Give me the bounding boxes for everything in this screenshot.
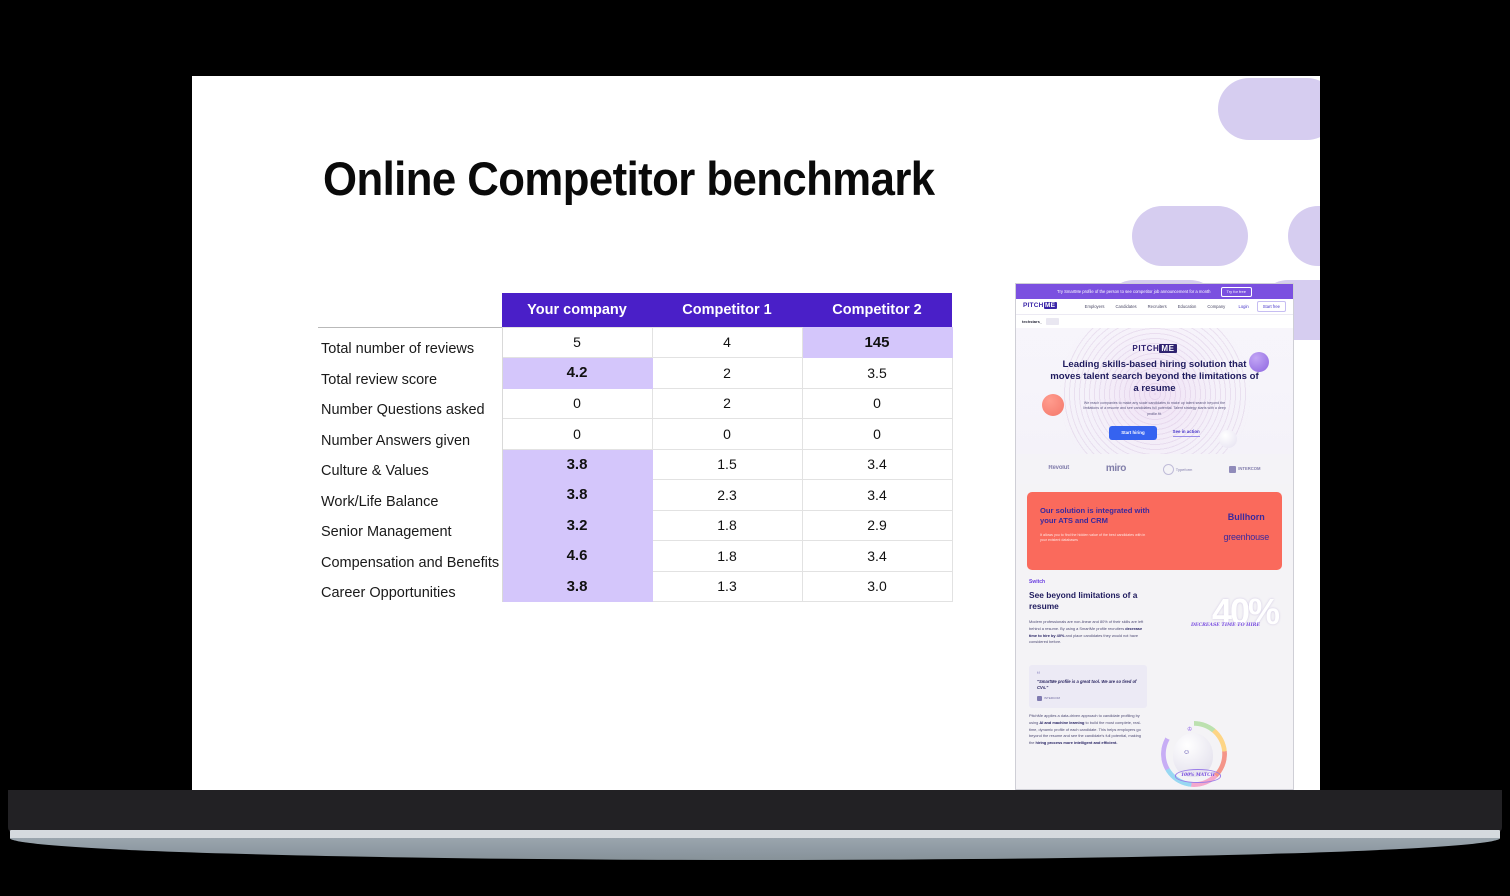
announcement-text: Try SmartMe profile of the person to see… — [1057, 289, 1210, 294]
hero-blob-coral-icon — [1042, 394, 1064, 416]
integration-card-text: Our solution is integrated with your ATS… — [1040, 506, 1152, 544]
resume-section-body: Modern professionals are non-linear and … — [1029, 619, 1147, 646]
deco-pill — [1132, 206, 1248, 266]
site-nav-links: Employers Candidates Recruiters Educatio… — [1085, 304, 1226, 309]
table-cell: 3.8 — [502, 449, 652, 480]
table-cell: 3.8 — [502, 480, 652, 511]
table-row: Total number of reviews54145 — [318, 327, 952, 358]
table-cell: 4 — [652, 327, 802, 358]
stat-graphic: 40% DECREASE TIME TO HIRE — [1147, 587, 1280, 661]
site-hero: PITCHME Leading skills-based hiring solu… — [1016, 328, 1293, 454]
hero-logo-text-b: ME — [1159, 344, 1176, 353]
avatar-face-icon: ☺ — [1183, 749, 1190, 758]
site-logo-text-b: ME — [1044, 302, 1057, 309]
site-nav-actions: Login Start free — [1239, 301, 1286, 312]
deco-pill — [1288, 206, 1320, 266]
techstars-badge: techstars_ — [1022, 319, 1042, 324]
testimonial-source: INTERCOM — [1037, 696, 1139, 701]
table-cell: 1.8 — [652, 541, 802, 572]
integration-card: Our solution is integrated with your ATS… — [1027, 492, 1282, 570]
table-row: Compensation and Benefits4.61.83.4 — [318, 541, 952, 572]
site-logo-text-a: PITCH — [1023, 302, 1044, 309]
table-body: Total number of reviews54145Total review… — [318, 327, 952, 602]
client-logo-revolut: Revolut — [1048, 465, 1069, 473]
testimonial-source-label: INTERCOM — [1044, 697, 1060, 701]
announcement-cta-button[interactable]: Try for free — [1221, 287, 1252, 297]
column-header-your-company[interactable]: Your company — [502, 293, 652, 327]
row-label: Number Questions asked — [318, 388, 502, 419]
start-hiring-button[interactable]: Start hiring — [1109, 426, 1156, 440]
client-logo-intercom-label: INTERCOM — [1238, 466, 1260, 471]
bullhorn-logo: Bullhorn — [1228, 512, 1265, 523]
ai-body-bold-1: AI and machine learning — [1039, 720, 1084, 725]
typeform-ring-icon — [1163, 464, 1174, 475]
table-cell: 3.2 — [502, 510, 652, 541]
integration-card-body: It allows you to find the hidden value o… — [1040, 533, 1152, 544]
testimonial-text: "SmartMe profile is a great tool. We are… — [1037, 679, 1139, 692]
integration-card-heading: Our solution is integrated with your ATS… — [1040, 506, 1152, 527]
ai-section-body: PitchMe applies a data-driven approach t… — [1029, 713, 1147, 790]
table-cell: 3.5 — [802, 358, 952, 389]
client-logo-typeform-label: Typeform — [1176, 467, 1193, 472]
hero-blob-white-icon — [1219, 430, 1237, 448]
table-cell: 0 — [802, 419, 952, 450]
resume-section-heading: See beyond limitations of a resume — [1029, 590, 1147, 612]
table-cell: 1.8 — [652, 510, 802, 541]
laptop-hinge — [8, 790, 1502, 834]
table-header-row: Your company Competitor 1 Competitor 2 — [318, 293, 952, 327]
site-logo[interactable]: PITCHME — [1023, 302, 1057, 310]
see-in-action-link[interactable]: See in action — [1173, 429, 1200, 438]
client-logo-miro: miro — [1106, 463, 1126, 476]
row-label: Work/Life Balance — [318, 480, 502, 511]
table-cell: 3.4 — [802, 541, 952, 572]
row-label: Compensation and Benefits — [318, 541, 502, 572]
start-free-button[interactable]: Start free — [1257, 301, 1286, 312]
intercom-mark-icon — [1037, 696, 1042, 701]
stat-handwritten-note: DECREASE TIME TO HIRE — [1191, 623, 1260, 629]
website-screenshot-panel: Try SmartMe profile of the person to see… — [1015, 283, 1294, 790]
table-row: Total review score4.223.5 — [318, 358, 952, 389]
table-cell: 0 — [652, 419, 802, 450]
nav-link-education[interactable]: Education — [1178, 304, 1197, 309]
table-cell: 3.8 — [502, 571, 652, 602]
nav-link-company[interactable]: Company — [1207, 304, 1225, 309]
benchmark-table: Your company Competitor 1 Competitor 2 T… — [318, 293, 953, 602]
login-link[interactable]: Login — [1239, 304, 1249, 309]
greenhouse-logo: greenhouse — [1223, 532, 1269, 543]
site-badge-row: techstars_ — [1016, 315, 1293, 328]
ai-section: PitchMe applies a data-driven approach t… — [1016, 708, 1293, 790]
nav-link-employers[interactable]: Employers — [1085, 304, 1105, 309]
table-cell: 0 — [502, 419, 652, 450]
table-corner-cell — [318, 293, 502, 327]
hero-logo: PITCHME — [1132, 344, 1176, 354]
table-cell: 4.6 — [502, 541, 652, 572]
client-logo-typeform: Typeform — [1163, 464, 1193, 475]
row-label: Total number of reviews — [318, 327, 502, 358]
site-navbar: PITCHME Employers Candidates Recruiters … — [1016, 299, 1293, 315]
table-cell: 0 — [502, 388, 652, 419]
intercom-mark-icon — [1229, 466, 1236, 473]
laptop-base — [10, 838, 1500, 860]
row-label: Senior Management — [318, 510, 502, 541]
ai-body-bold-2: hiring process more intelligent and effi… — [1036, 740, 1118, 745]
testimonial-quote: “ "SmartMe profile is a great tool. We a… — [1029, 665, 1147, 708]
laptop-screen: Online Competitor benchmark Your company… — [192, 76, 1320, 790]
nav-link-recruiters[interactable]: Recruiters — [1148, 304, 1167, 309]
table-row: Number Questions asked020 — [318, 388, 952, 419]
integration-card-logos: Bullhorn greenhouse — [1223, 506, 1269, 544]
hero-cta-group: Start hiring See in action — [1109, 426, 1200, 440]
table-cell: 1.3 — [652, 571, 802, 602]
column-header-competitor-2[interactable]: Competitor 2 — [802, 293, 952, 327]
deco-pill — [1218, 78, 1320, 140]
table-cell: 4.2 — [502, 358, 652, 389]
avatar-graphic: ♔ ☺ 100% MATCH — [1147, 713, 1280, 790]
table-cell: 3.4 — [802, 480, 952, 511]
table-row: Culture & Values3.81.53.4 — [318, 449, 952, 480]
row-label: Number Answers given — [318, 419, 502, 450]
client-logo-row: Revolut miro Typeform INTERCOM — [1016, 454, 1293, 484]
table-row: Career Opportunities3.81.33.0 — [318, 571, 952, 602]
site-announcement-bar[interactable]: Try SmartMe profile of the person to see… — [1016, 284, 1293, 299]
row-label: Total review score — [318, 358, 502, 389]
table-cell: 2.3 — [652, 480, 802, 511]
table-cell: 3.0 — [802, 571, 952, 602]
resume-section-text: See beyond limitations of a resume Moder… — [1029, 587, 1147, 661]
slide-canvas: Online Competitor benchmark Your company… — [0, 0, 1510, 896]
hero-subtext: We reach companies to make any scale can… — [1080, 401, 1230, 417]
row-label: Career Opportunities — [318, 571, 502, 602]
page-title: Online Competitor benchmark — [323, 151, 935, 206]
table-row: Work/Life Balance3.82.33.4 — [318, 480, 952, 511]
row-label: Culture & Values — [318, 449, 502, 480]
column-header-competitor-1[interactable]: Competitor 1 — [652, 293, 802, 327]
table-cell: 0 — [802, 388, 952, 419]
resume-section: See beyond limitations of a resume Moder… — [1016, 585, 1293, 661]
match-badge: 100% MATCH — [1175, 769, 1221, 782]
hero-heading: Leading skills-based hiring solution tha… — [1047, 359, 1262, 395]
table-cell: 2.9 — [802, 510, 952, 541]
table-row: Number Answers given000 — [318, 419, 952, 450]
client-logo-intercom: INTERCOM — [1229, 466, 1260, 473]
table-cell: 1.5 — [652, 449, 802, 480]
table-cell: 2 — [652, 388, 802, 419]
table-row: Senior Management3.21.82.9 — [318, 510, 952, 541]
hero-logo-text-a: PITCH — [1132, 344, 1159, 353]
table-cell: 2 — [652, 358, 802, 389]
table-cell: 145 — [802, 327, 952, 358]
table-cell: 5 — [502, 327, 652, 358]
table-cell: 3.4 — [802, 449, 952, 480]
badge-chip — [1046, 318, 1059, 325]
nav-link-candidates[interactable]: Candidates — [1115, 304, 1136, 309]
